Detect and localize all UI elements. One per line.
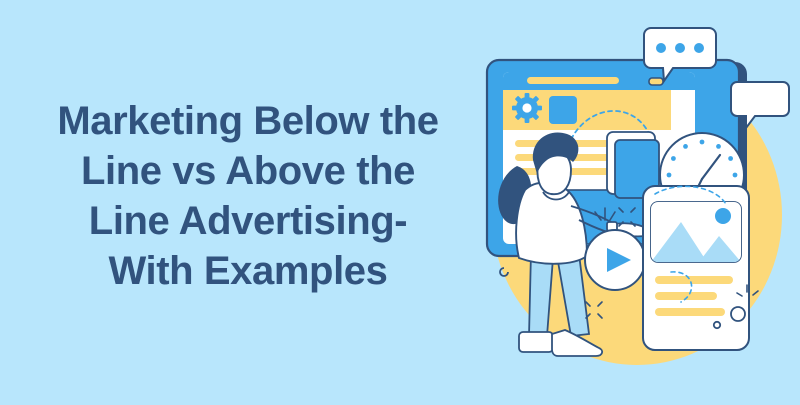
marketing-workspace-illustration [455,20,800,385]
yellow-text-lines [655,308,725,316]
bubble-anchor [649,78,663,85]
gear-icon [512,93,542,123]
headline-line-2: Line vs Above the [18,146,478,196]
yellow-text-lines [655,276,733,284]
mobile-card [643,186,749,350]
banner-canvas: Marketing Below the Line vs Above the Li… [0,0,800,405]
headline-line-4: With Examples [18,246,478,296]
screen-topbar-pill [527,77,619,84]
play-button-icon[interactable] [585,230,645,290]
headline-line-3: Line Advertising- [18,196,478,246]
blue-square-tile [549,96,577,124]
headline-line-1: Marketing Below the [18,96,478,146]
page-title: Marketing Below the Line vs Above the Li… [18,96,478,296]
